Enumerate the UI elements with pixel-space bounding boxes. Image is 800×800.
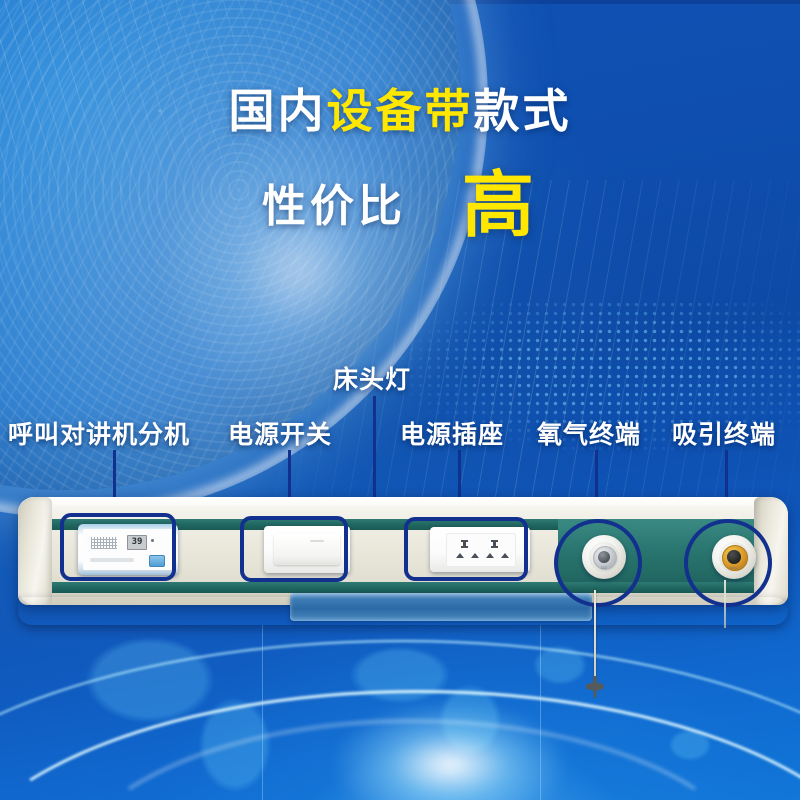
callout-box-intercom (60, 513, 176, 581)
grid-line-left (262, 625, 263, 800)
panel-top-highlight (26, 498, 780, 508)
callout-label-power-switch: 电源开关 (228, 415, 332, 451)
headline: 国内设备带款式 (0, 88, 800, 134)
grid-line-right (540, 625, 541, 800)
callout-label-intercom-extension: 呼叫对讲机分机 (8, 415, 190, 451)
promo-banner: 国内设备带款式 性价比高 呼叫对讲机分机 电源开关 床头灯 电源插座 氧气终端 … (0, 0, 800, 800)
headline-part-3: 款式 (474, 85, 572, 137)
pull-cord[interactable] (594, 590, 596, 682)
panel-end-cap-left (18, 497, 52, 605)
callout-label-power-socket: 电源插座 (400, 415, 504, 451)
panel-blue-accent-strip (290, 593, 592, 621)
panel-stripe-bottom (46, 582, 776, 593)
callout-circle-oxygen (554, 519, 642, 607)
subheadline: 性价比高 (0, 170, 800, 242)
headline-highlight: 设备带 (327, 85, 474, 137)
callout-circle-suction (684, 519, 772, 607)
callout-label-bed-lamp: 床头灯 (333, 360, 411, 396)
secondary-cord (724, 580, 726, 628)
subheadline-emphasis: 高 (462, 166, 538, 246)
callout-label-suction-terminal: 吸引终端 (672, 415, 776, 451)
callout-box-switch (240, 516, 348, 582)
callout-box-socket (404, 517, 528, 581)
headline-part-1: 国内 (229, 85, 327, 137)
subheadline-text: 性价比 (262, 182, 406, 231)
callout-label-oxygen-terminal: 氧气终端 (537, 415, 641, 451)
